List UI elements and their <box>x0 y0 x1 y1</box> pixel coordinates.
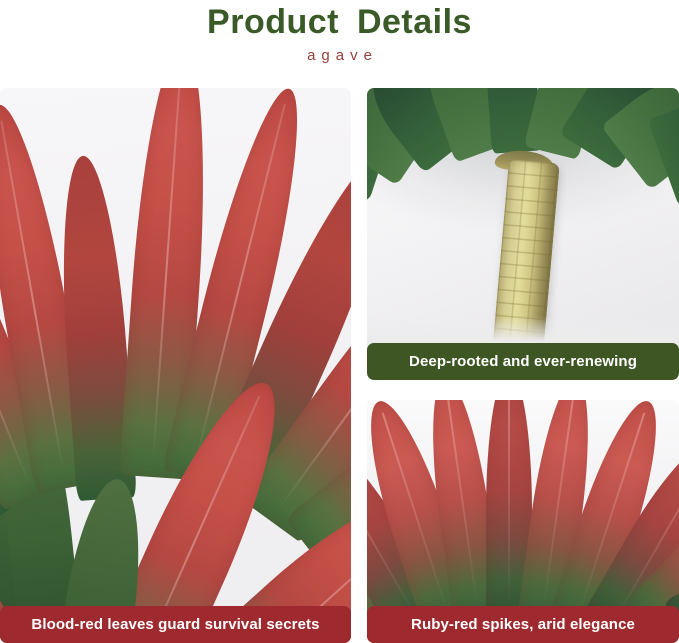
panel-left-caption: Blood-red leaves guard survival secrets <box>0 606 351 643</box>
agave-rosette-photo <box>0 88 351 643</box>
product-details-page: Product Details agave <box>0 0 679 643</box>
agave-trunk-photo <box>367 88 679 380</box>
page-header: Product Details agave <box>0 0 679 67</box>
page-subtitle: agave <box>0 45 679 67</box>
page-title: Product Details <box>0 2 679 42</box>
product-image-panel-top-right[interactable]: Deep-rooted and ever-renewing <box>367 88 679 380</box>
product-image-grid: Blood-red leaves guard survival secrets <box>0 88 679 643</box>
panel-top-right-caption: Deep-rooted and ever-renewing <box>367 343 679 380</box>
panel-bottom-right-caption: Ruby-red spikes, arid elegance <box>367 606 679 643</box>
product-image-panel-bottom-right[interactable]: Ruby-red spikes, arid elegance <box>367 400 679 643</box>
product-image-panel-left[interactable]: Blood-red leaves guard survival secrets <box>0 88 351 643</box>
